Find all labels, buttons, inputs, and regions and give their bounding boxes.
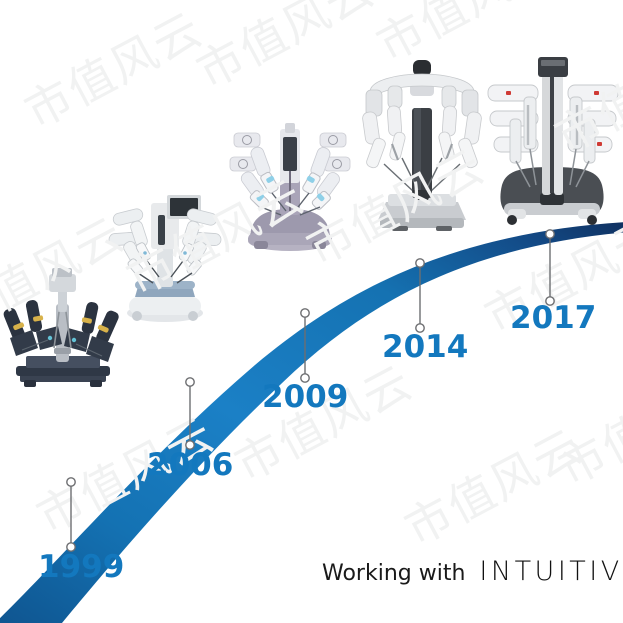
year-label-2017: 2017 xyxy=(510,303,596,334)
robot-2014 xyxy=(358,52,486,232)
timeline-infographic: 市值风云 市值风云 市值风云 市值风云 市值风云 市值风云 市值风云 市值风云 … xyxy=(0,0,623,623)
robot-2006 xyxy=(105,185,225,325)
logo-brand-i: I xyxy=(558,556,569,587)
connector-1999 xyxy=(60,474,82,556)
year-label-2014: 2014 xyxy=(382,332,468,363)
year-label-2006: 2006 xyxy=(147,450,233,481)
logo-brand-part2: TIVE xyxy=(569,556,623,587)
logo-brand-text: INTUITIVE xyxy=(479,556,623,587)
connector-2017 xyxy=(539,226,561,310)
year-label-2009: 2009 xyxy=(262,382,348,413)
robot-2017 xyxy=(484,45,620,225)
year-label-1999: 1999 xyxy=(38,552,124,583)
connector-2006 xyxy=(179,374,201,454)
connector-2009 xyxy=(294,305,316,387)
logo-brand-part1: INTU xyxy=(479,556,557,587)
connector-2014 xyxy=(409,255,431,337)
robot-2009 xyxy=(228,115,352,253)
partner-logo: Working with INTUITIVE xyxy=(322,556,623,587)
logo-prefix-text: Working with xyxy=(322,561,465,586)
